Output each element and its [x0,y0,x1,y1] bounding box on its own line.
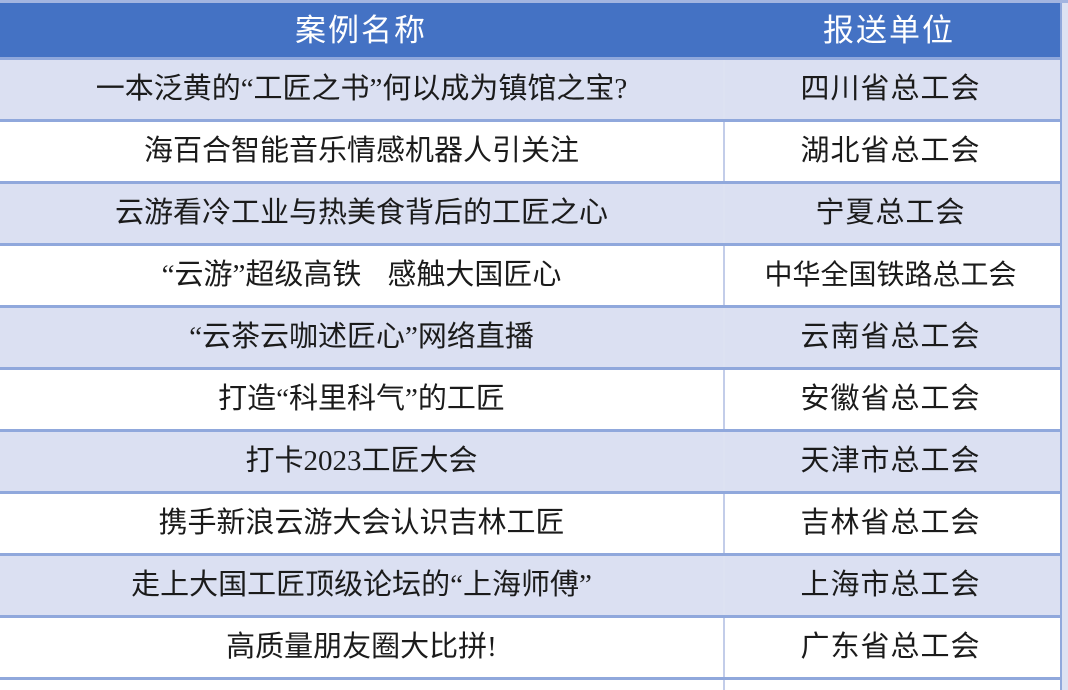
column-header-case-name: 案例名称 [0,2,724,59]
cell-submitting-unit: 广东省总工会 [724,617,1060,679]
table-body: 一本泛黄的“工匠之书”何以成为镇馆之宝? 四川省总工会 海百合智能音乐情感机器人… [0,59,1060,690]
case-name-text: “云游”超级高铁 [162,259,362,291]
case-name-text: 海百合智能音乐情感机器人引关注 [144,135,579,167]
case-name-text: 云游看冷工业与热美食背后的工匠之心 [115,197,608,229]
case-name-text: 走上大国工匠顶级论坛的“上海师傅” [131,569,592,601]
cell-submitting-unit: 四川省总工会 [724,59,1060,121]
cell-submitting-unit: 安徽省总工会 [724,369,1060,431]
table-right-margin [1060,0,1068,690]
case-name-text-continued: 感触大国匠心 [387,259,561,291]
cell-submitting-unit: 云南省总工会 [724,307,1060,369]
table-row: “云游”超级高铁感触大国匠心 中华全国铁路总工会 [0,245,1060,307]
cell-case-name: “云游”超级高铁感触大国匠心 [0,245,724,307]
table-header: 案例名称 报送单位 [0,2,1060,59]
cell-submitting-unit: 湖北省总工会 [724,121,1060,183]
cell-case-name: “云茶云咖述匠心”网络直播 [0,307,724,369]
cell-submitting-unit: 天津市总工会 [724,431,1060,493]
cell-case-name: 打造“科里科气”的工匠 [0,369,724,431]
cell-case-name: 走上大国工匠顶级论坛的“上海师傅” [0,555,724,617]
column-header-submitting-unit: 报送单位 [724,2,1060,59]
cell-submitting-unit [724,679,1060,690]
cell-submitting-unit: 宁夏总工会 [724,183,1060,245]
cell-case-name: 携手新浪云游大会认识吉林工匠 [0,493,724,555]
case-table: 案例名称 报送单位 一本泛黄的“工匠之书”何以成为镇馆之宝? 四川省总工会 海百… [0,0,1060,690]
cell-case-name: 一本泛黄的“工匠之书”何以成为镇馆之宝? [0,59,724,121]
table-row: 走上大国工匠顶级论坛的“上海师傅” 上海市总工会 [0,555,1060,617]
cell-submitting-unit: 吉林省总工会 [724,493,1060,555]
table-row: 打造“科里科气”的工匠 安徽省总工会 [0,369,1060,431]
case-name-text: 高质量朋友圈大比拼! [226,631,497,663]
table-row: 高质量朋友圈大比拼! 广东省总工会 [0,617,1060,679]
table-row: 云游看冷工业与热美食背后的工匠之心 宁夏总工会 [0,183,1060,245]
table-row-partial [0,679,1060,690]
table-row: 一本泛黄的“工匠之书”何以成为镇馆之宝? 四川省总工会 [0,59,1060,121]
cell-case-name: 高质量朋友圈大比拼! [0,617,724,679]
cell-case-name: 海百合智能音乐情感机器人引关注 [0,121,724,183]
cell-submitting-unit: 上海市总工会 [724,555,1060,617]
case-name-text: 打造“科里科气”的工匠 [218,383,505,415]
table-header-row: 案例名称 报送单位 [0,2,1060,59]
case-table-container: 案例名称 报送单位 一本泛黄的“工匠之书”何以成为镇馆之宝? 四川省总工会 海百… [0,0,1068,690]
cell-case-name: 打卡2023工匠大会 [0,431,724,493]
case-name-text: 携手新浪云游大会认识吉林工匠 [158,507,564,539]
header-top-rule [1060,0,1068,3]
cell-case-name [0,679,724,690]
case-name-text: 打卡2023工匠大会 [245,445,477,477]
case-name-text: 一本泛黄的“工匠之书”何以成为镇馆之宝? [96,73,628,105]
cell-submitting-unit: 中华全国铁路总工会 [724,245,1060,307]
table-row: “云茶云咖述匠心”网络直播 云南省总工会 [0,307,1060,369]
table-row: 携手新浪云游大会认识吉林工匠 吉林省总工会 [0,493,1060,555]
case-name-text: “云茶云咖述匠心”网络直播 [189,321,534,353]
table-row: 海百合智能音乐情感机器人引关注 湖北省总工会 [0,121,1060,183]
table-row: 打卡2023工匠大会 天津市总工会 [0,431,1060,493]
cell-case-name: 云游看冷工业与热美食背后的工匠之心 [0,183,724,245]
